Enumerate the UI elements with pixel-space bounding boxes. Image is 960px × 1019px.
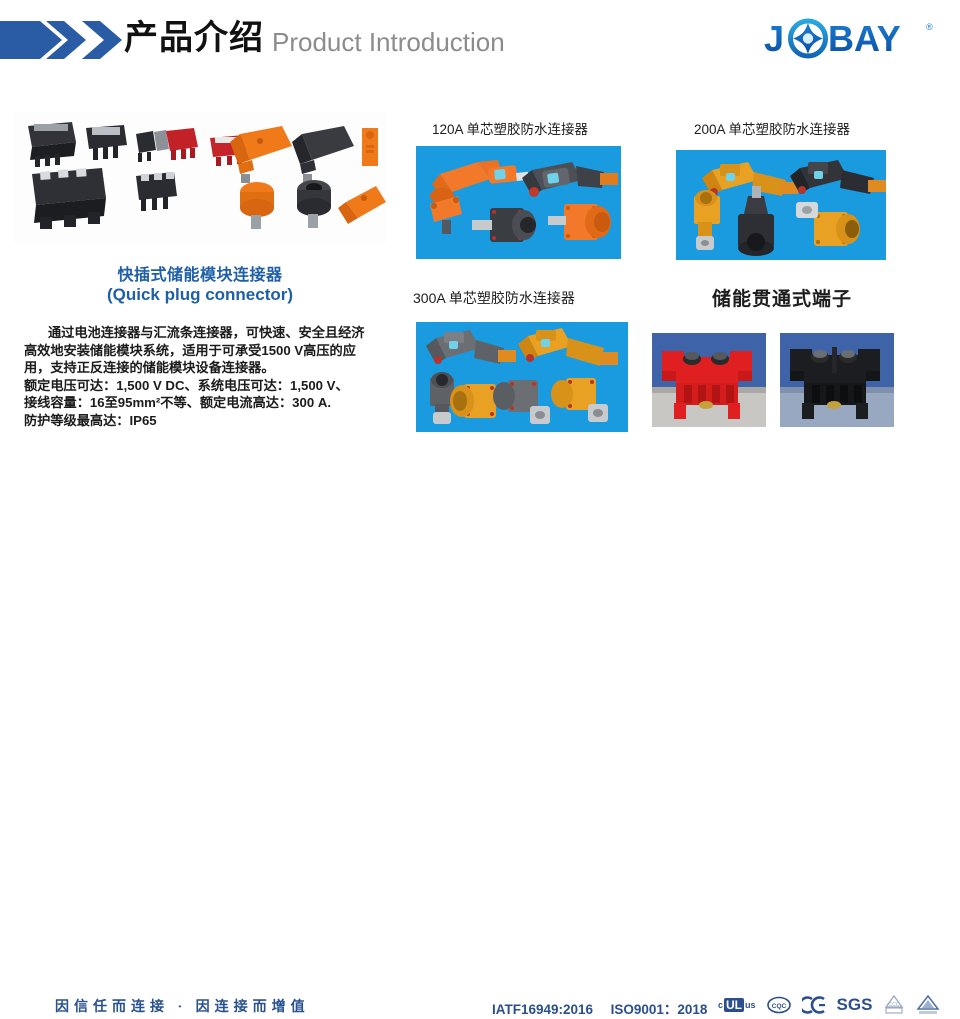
sgs-mark: SGS xyxy=(837,995,873,1015)
terminal-photo-black xyxy=(780,333,894,427)
panel-200a-photo xyxy=(676,150,886,260)
slide-header: 产品介绍 Product Introduction J xyxy=(0,0,960,78)
svg-text:®: ® xyxy=(926,22,933,32)
svg-text:J: J xyxy=(764,18,784,59)
panel-300a-photo xyxy=(416,322,628,432)
svg-text:BAY: BAY xyxy=(828,18,901,59)
us-suffix: us xyxy=(745,1000,756,1010)
cqc-mark: CQC xyxy=(767,996,791,1014)
page-title-en: Product Introduction xyxy=(272,24,505,60)
ccc-mark: CCC xyxy=(883,994,905,1016)
chevron-arrow-icon xyxy=(0,19,122,61)
page-title-cn: 产品介绍 xyxy=(124,17,264,59)
left-product-title-en: (Quick plug connector) xyxy=(14,285,386,304)
cul-prefix: c xyxy=(718,1000,723,1010)
terminal-photo-red xyxy=(652,333,766,427)
cert-iatf: IATF16949:2016 xyxy=(492,1002,593,1017)
delta-cert-mark xyxy=(916,994,940,1016)
cert-iso: ISO9001：2018 xyxy=(611,1002,708,1017)
caption-terminal: 储能贯通式端子 xyxy=(712,284,852,311)
ul-label: UL xyxy=(724,998,744,1012)
footer-slogan: 因信任而连接 · 因连接而增值 xyxy=(55,996,310,1016)
svg-text:CQC: CQC xyxy=(771,1003,786,1010)
left-description: 通过电池连接器与汇流条连接器，可快速、安全且经济高效地安装储能模块系统，适用于可… xyxy=(24,324,374,430)
slide-footer: 因信任而连接 · 因连接而增值 IATF16949:2016 ISO9001：2… xyxy=(0,488,960,540)
panel-120a-photo xyxy=(416,146,621,259)
slide-root: 产品介绍 Product Introduction J xyxy=(0,0,960,540)
svg-text:CCC: CCC xyxy=(889,1002,900,1008)
cul-us-mark: c UL us xyxy=(718,998,756,1012)
ce-mark xyxy=(802,996,826,1014)
description-paragraph-3: 接线容量：16至95mm²不等、额定电流高达：300 A. xyxy=(24,394,374,412)
caption-120a: 120A 单芯塑胶防水连接器 xyxy=(432,118,588,138)
caption-300a: 300A 单芯塑胶防水连接器 xyxy=(413,288,575,308)
certification-standards: IATF16949:2016 ISO9001：2018 xyxy=(492,998,707,1018)
description-paragraph-4: 防护等级最高达：IP65 xyxy=(24,412,374,430)
description-paragraph-2: 额定电压可达：1,500 V DC、系统电压可达：1,500 V、 xyxy=(24,377,374,395)
jobay-logo: J BAY ® xyxy=(756,16,946,62)
left-product-title: 快插式储能模块连接器 (Quick plug connector) xyxy=(14,266,386,304)
left-product-title-cn: 快插式储能模块连接器 xyxy=(14,266,386,285)
description-paragraph-1: 通过电池连接器与汇流条连接器，可快速、安全且经济高效地安装储能模块系统，适用于可… xyxy=(24,324,374,377)
certification-marks: c UL us CQC SGS xyxy=(718,991,940,1019)
connector-family-photo xyxy=(14,112,386,244)
caption-200a: 200A 单芯塑胶防水连接器 xyxy=(694,118,850,138)
